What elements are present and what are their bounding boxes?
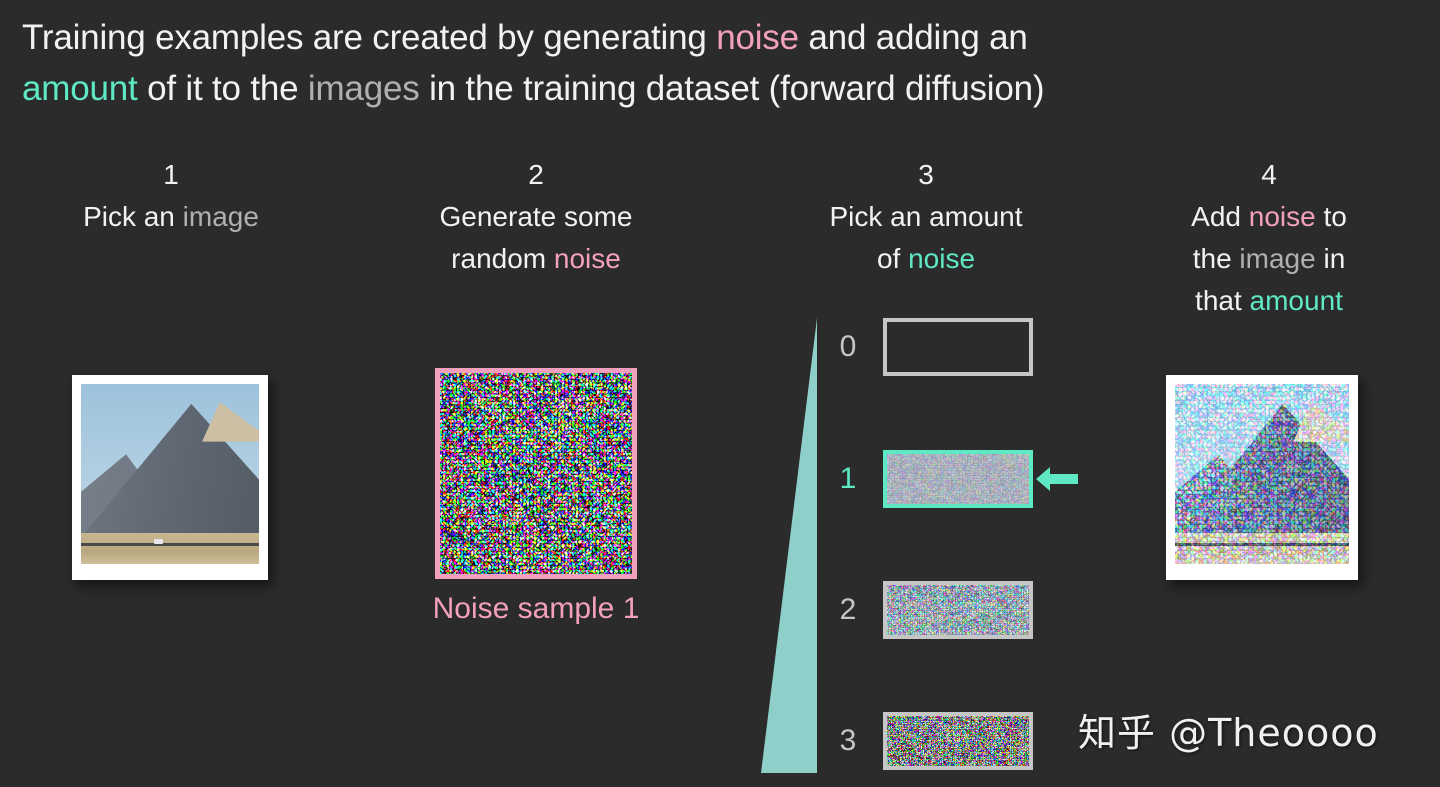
- step-3-text-line1: Pick an amount: [830, 201, 1023, 232]
- step-4-header: 4 Add noise tothe image inthat amount: [1140, 158, 1398, 322]
- step-2-description: Generate somerandom noise: [400, 196, 672, 280]
- step-3-text-line2: of: [877, 243, 908, 274]
- noise-texture-full: [440, 373, 632, 574]
- title-keyword-noise: noise: [716, 18, 799, 57]
- step-3-description: Pick an amountof noise: [790, 196, 1062, 280]
- road-line: [81, 543, 259, 546]
- title-line-1-part-1: Training examples are created by generat…: [22, 18, 716, 57]
- step-3-number: 3: [790, 158, 1062, 192]
- noise-amount-gradient-triangle: [755, 318, 817, 773]
- noise-sample-caption: Noise sample 1: [400, 592, 672, 626]
- ladder-row-swatch[interactable]: [883, 712, 1033, 770]
- title-line-2-part-1: of it to the: [138, 69, 308, 108]
- desert-ground-region: [81, 533, 259, 564]
- title-line-1-part-2: and adding an: [799, 18, 1028, 57]
- ladder-row-label: 1: [830, 462, 866, 496]
- step-2-number: 2: [400, 158, 672, 192]
- step-4-keyword-image: image: [1239, 243, 1315, 274]
- step-4-keyword-noise: noise: [1249, 201, 1316, 232]
- ladder-row-label: 3: [830, 724, 866, 758]
- step-4-text-b2: in: [1316, 243, 1346, 274]
- noised-pyramid-scene: [1175, 384, 1349, 564]
- title-line-2-part-2: in the training dataset (forward diffusi…: [420, 69, 1045, 108]
- ladder-row-label: 0: [830, 330, 866, 364]
- pyramid-scene: [81, 384, 259, 564]
- page-title: Training examples are created by generat…: [22, 12, 1422, 114]
- watermark-text: 知乎 @Theoooo: [1078, 702, 1379, 757]
- selection-arrow-icon: [1036, 462, 1078, 496]
- step-4-text-a3: that: [1195, 285, 1249, 316]
- ladder-row-swatch[interactable]: [883, 581, 1033, 639]
- result-image-photo: [1166, 375, 1358, 580]
- step-1-description: Pick an image: [40, 196, 302, 238]
- ladder-row[interactable]: 2: [830, 581, 1035, 639]
- step-1-keyword: image: [183, 201, 259, 232]
- ladder-row[interactable]: 0: [830, 318, 1035, 376]
- step-4-text-b1: to: [1316, 201, 1347, 232]
- step-4-text-a2: the: [1193, 243, 1240, 274]
- ladder-row[interactable]: 3: [830, 712, 1035, 770]
- car-speck: [154, 539, 163, 544]
- step-2-header: 2 Generate somerandom noise: [400, 158, 672, 280]
- noise-sample-frame: [435, 368, 637, 579]
- step-4-text-a1: Add: [1191, 201, 1249, 232]
- noise-texture-level-1: [887, 454, 1029, 504]
- step-4-description: Add noise tothe image inthat amount: [1140, 196, 1398, 322]
- step-1-text: Pick an: [83, 201, 183, 232]
- ladder-row-label: 2: [830, 593, 866, 627]
- noise-texture-level-2: [887, 585, 1029, 635]
- noise-overlay-texture: [1175, 384, 1349, 564]
- step-1-number: 1: [40, 158, 302, 192]
- step-2-keyword: noise: [554, 243, 621, 274]
- title-keyword-images: images: [308, 69, 420, 108]
- step-2-text-line2: random: [451, 243, 554, 274]
- step-3-header: 3 Pick an amountof noise: [790, 158, 1062, 280]
- ladder-row[interactable]: 1: [830, 450, 1035, 508]
- step-4-number: 4: [1140, 158, 1398, 192]
- ladder-row-swatch[interactable]: [883, 450, 1033, 508]
- step-1-header: 1 Pick an image: [40, 158, 302, 238]
- step-2-text-line1: Generate some: [440, 201, 633, 232]
- step-3-keyword: noise: [908, 243, 975, 274]
- step-4-keyword-amount: amount: [1250, 285, 1343, 316]
- source-image-photo: [72, 375, 268, 580]
- ladder-row-swatch[interactable]: [883, 318, 1033, 376]
- title-keyword-amount: amount: [22, 69, 138, 108]
- noise-texture-level-3: [887, 716, 1029, 766]
